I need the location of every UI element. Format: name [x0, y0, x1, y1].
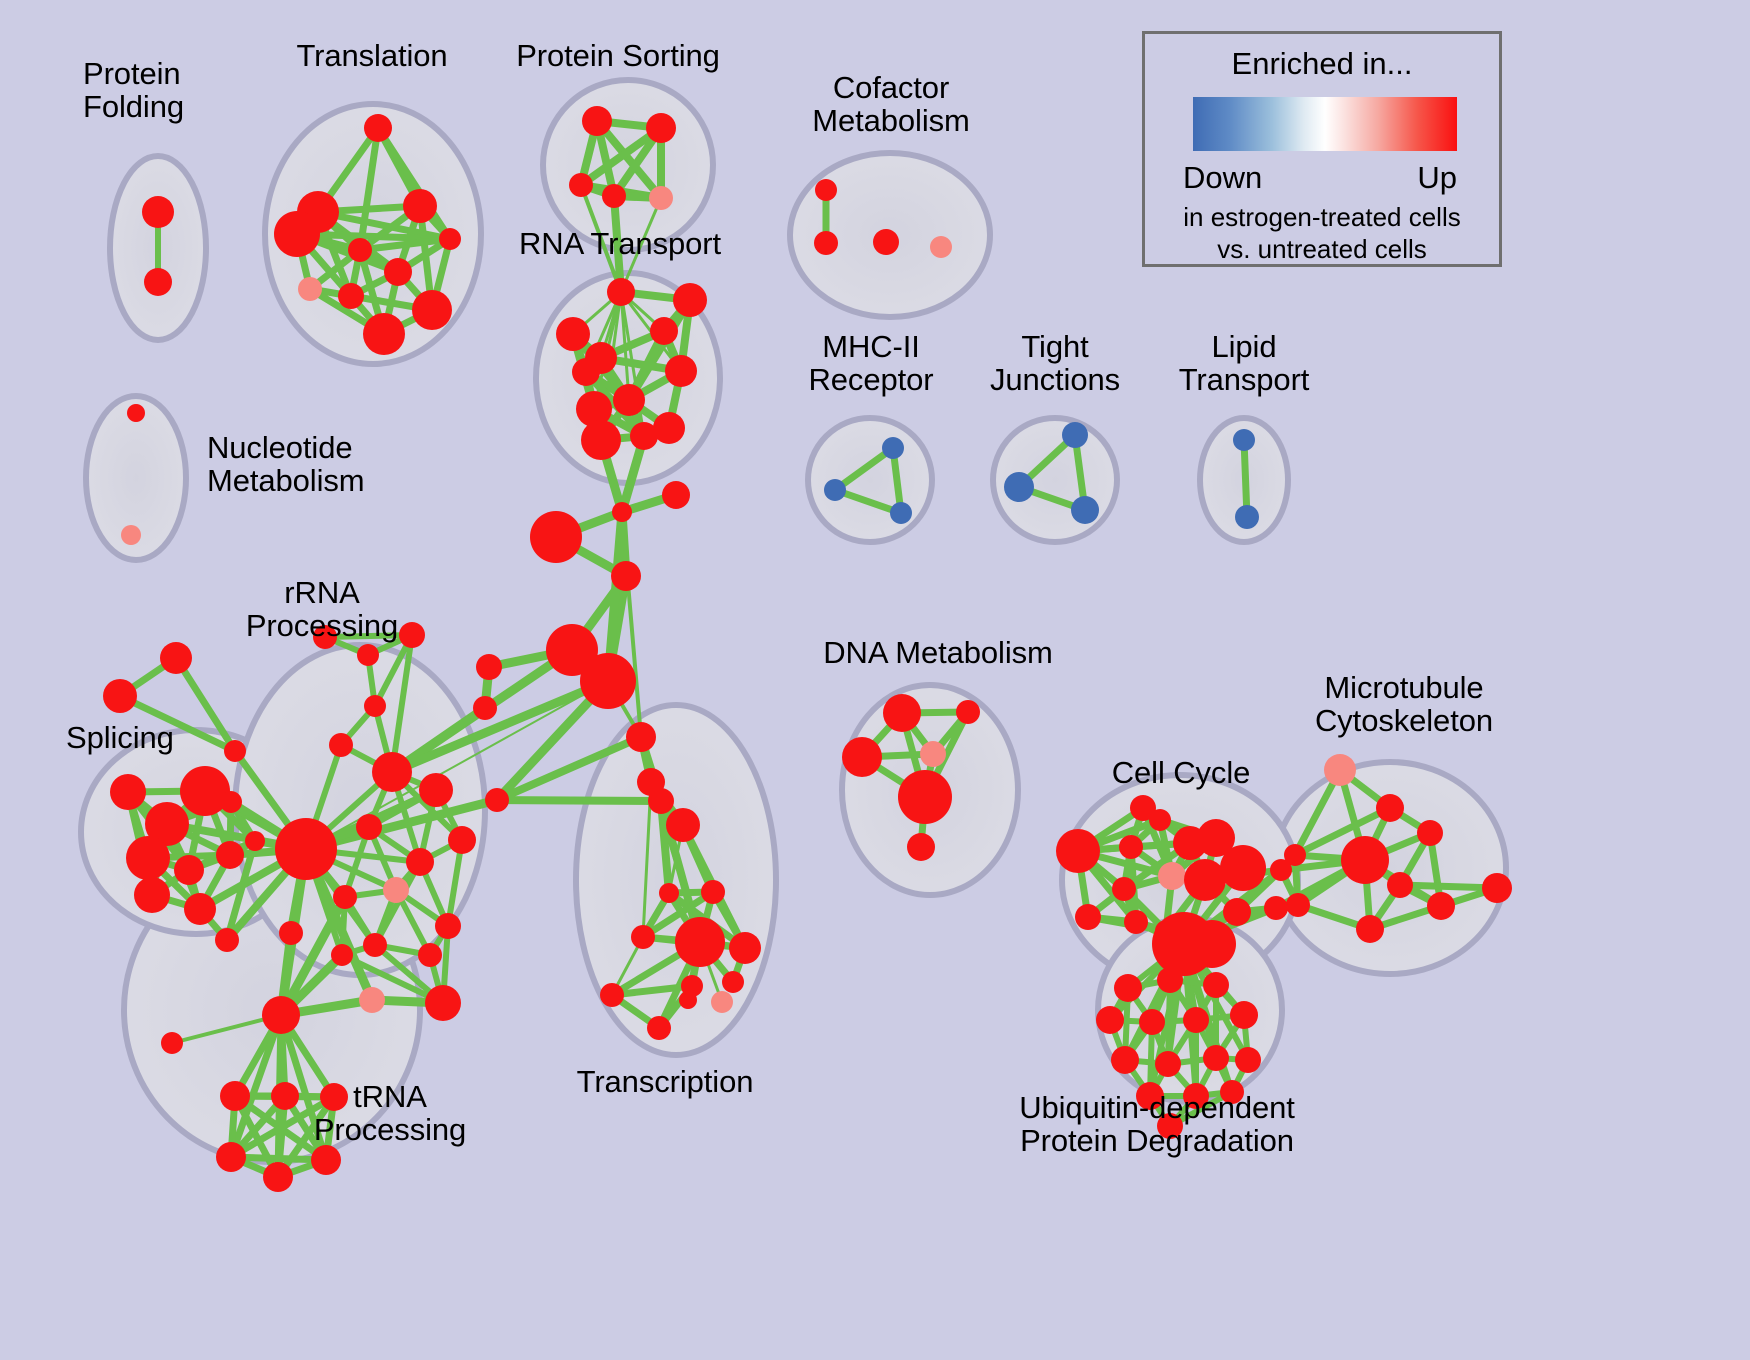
node — [331, 944, 353, 966]
legend-subtitle-line1: in estrogen-treated cells — [1145, 202, 1499, 233]
cluster-label-rna-transport: RNA Transport — [519, 228, 721, 261]
node — [1235, 505, 1259, 529]
cluster-label-nucleotide: Nucleotide Metabolism — [207, 432, 365, 498]
node — [1264, 896, 1288, 920]
node — [384, 258, 412, 286]
node — [607, 278, 635, 306]
node — [1341, 836, 1389, 884]
legend-box: Enriched in... Down Up in estrogen-treat… — [1142, 31, 1502, 267]
cluster-label-trna: tRNA Processing — [314, 1081, 466, 1147]
cluster-label-protein-sorting: Protein Sorting — [516, 40, 720, 73]
node — [650, 317, 678, 345]
node — [1004, 472, 1034, 502]
cluster-protein-sorting — [543, 80, 713, 250]
node — [1203, 1045, 1229, 1071]
node — [473, 696, 497, 720]
cluster-label-rrna: rRNA Processing — [246, 577, 398, 643]
node — [1158, 862, 1186, 890]
node — [418, 943, 442, 967]
node — [425, 985, 461, 1021]
node — [1155, 1051, 1181, 1077]
node — [711, 991, 733, 1013]
node — [613, 384, 645, 416]
node — [679, 991, 697, 1009]
node — [220, 791, 242, 813]
node — [569, 173, 593, 197]
node — [1324, 754, 1356, 786]
node — [1071, 496, 1099, 524]
node — [333, 885, 357, 909]
node — [662, 481, 690, 509]
node — [406, 848, 434, 876]
cluster-label-tight-junctions: Tight Junctions — [990, 331, 1120, 397]
node — [1114, 974, 1142, 1002]
node — [1482, 873, 1512, 903]
node — [1119, 835, 1143, 859]
node — [359, 987, 385, 1013]
node — [1184, 859, 1226, 901]
node — [1062, 422, 1088, 448]
node — [1270, 859, 1292, 881]
node — [659, 883, 679, 903]
node — [1230, 1001, 1258, 1029]
node — [600, 983, 624, 1007]
legend-title: Enriched in... — [1145, 46, 1499, 82]
node — [956, 700, 980, 724]
node — [160, 642, 192, 674]
node — [476, 654, 502, 680]
node — [348, 238, 372, 262]
node — [666, 808, 700, 842]
node — [298, 277, 322, 301]
node — [665, 355, 697, 387]
node — [103, 679, 137, 713]
node — [729, 932, 761, 964]
cluster-label-cofactor: Cofactor Metabolism — [812, 72, 970, 138]
node — [220, 1081, 250, 1111]
node — [883, 694, 921, 732]
node — [263, 1162, 293, 1192]
node — [1111, 1046, 1139, 1074]
node — [882, 437, 904, 459]
node — [1075, 904, 1101, 930]
node — [907, 833, 935, 861]
node — [372, 752, 412, 792]
node — [485, 788, 509, 812]
node — [556, 317, 590, 351]
node — [364, 114, 392, 142]
node — [262, 996, 300, 1034]
cluster-label-translation: Translation — [296, 40, 447, 73]
legend-high-label: Up — [1417, 160, 1457, 196]
cluster-label-protein-folding: Protein Folding — [83, 58, 184, 124]
node — [121, 525, 141, 545]
node — [363, 313, 405, 355]
node — [275, 818, 337, 880]
node — [631, 925, 655, 949]
node — [127, 404, 145, 422]
node — [647, 1016, 671, 1040]
node — [1139, 1009, 1165, 1035]
node — [403, 189, 437, 223]
node — [356, 814, 382, 840]
node — [448, 826, 476, 854]
node — [224, 740, 246, 762]
cluster-label-splicing: Splicing — [66, 722, 174, 755]
node — [611, 561, 641, 591]
node — [580, 653, 636, 709]
node — [216, 841, 244, 869]
cluster-label-mhc-ii: MHC-II Receptor — [809, 331, 934, 397]
cluster-mhc-ii-receptor — [808, 418, 932, 542]
node — [701, 880, 725, 904]
node — [1183, 1007, 1209, 1033]
network-figure: Protein FoldingTranslationProtein Sortin… — [0, 0, 1750, 1360]
node — [311, 1145, 341, 1175]
node — [161, 1032, 183, 1054]
node — [357, 644, 379, 666]
node — [174, 855, 204, 885]
node — [1188, 920, 1236, 968]
node — [383, 877, 409, 903]
node — [279, 921, 303, 945]
node — [814, 231, 838, 255]
cluster-label-cell-cycle: Cell Cycle — [1112, 757, 1251, 790]
node — [648, 788, 674, 814]
node — [1220, 845, 1266, 891]
node — [673, 283, 707, 317]
cluster-label-microtubule: Microtubule Cytoskeleton — [1315, 672, 1493, 738]
cluster-label-transcription: Transcription — [577, 1066, 754, 1099]
node — [144, 268, 172, 296]
node — [581, 420, 621, 460]
node — [1387, 872, 1413, 898]
node — [824, 479, 846, 501]
node — [602, 184, 626, 208]
node — [1223, 898, 1251, 926]
node — [142, 196, 174, 228]
node — [646, 113, 676, 143]
cluster-label-dna-metabolism: DNA Metabolism — [823, 637, 1052, 670]
node — [1124, 910, 1148, 934]
node — [653, 412, 685, 444]
cluster-label-lipid-transport: Lipid Transport — [1179, 331, 1310, 397]
node — [1096, 1006, 1124, 1034]
node — [626, 722, 656, 752]
node — [216, 1142, 246, 1172]
node — [572, 358, 600, 386]
node — [399, 622, 425, 648]
node — [722, 971, 744, 993]
node — [530, 511, 582, 563]
node — [412, 290, 452, 330]
node — [419, 773, 453, 807]
node — [1112, 877, 1136, 901]
node — [271, 1082, 299, 1110]
node — [675, 917, 725, 967]
node — [1286, 893, 1310, 917]
node — [184, 893, 216, 925]
node — [842, 737, 882, 777]
node — [364, 695, 386, 717]
node — [274, 211, 320, 257]
node — [890, 502, 912, 524]
node — [134, 877, 170, 913]
node — [1235, 1047, 1261, 1073]
node — [815, 179, 837, 201]
node — [1233, 429, 1255, 451]
node — [1427, 892, 1455, 920]
node — [898, 770, 952, 824]
legend-subtitle-line2: vs. untreated cells — [1145, 234, 1499, 265]
node — [110, 774, 146, 810]
node — [930, 236, 952, 258]
node — [1056, 829, 1100, 873]
node — [1203, 972, 1229, 998]
node — [920, 741, 946, 767]
color-scale-bar — [1193, 97, 1457, 151]
node — [1157, 967, 1183, 993]
node — [435, 913, 461, 939]
node — [649, 186, 673, 210]
node — [1356, 915, 1384, 943]
node — [1149, 809, 1171, 831]
node — [126, 836, 170, 880]
node — [215, 928, 239, 952]
node — [582, 106, 612, 136]
node — [1417, 820, 1443, 846]
cluster-label-ubiquitin: Ubiquitin-dependent Protein Degradation — [1019, 1092, 1295, 1158]
node — [1376, 794, 1404, 822]
legend-low-label: Down — [1183, 160, 1262, 196]
node — [439, 228, 461, 250]
node — [338, 283, 364, 309]
node — [363, 933, 387, 957]
node — [612, 502, 632, 522]
node — [329, 733, 353, 757]
node — [873, 229, 899, 255]
node — [245, 831, 265, 851]
